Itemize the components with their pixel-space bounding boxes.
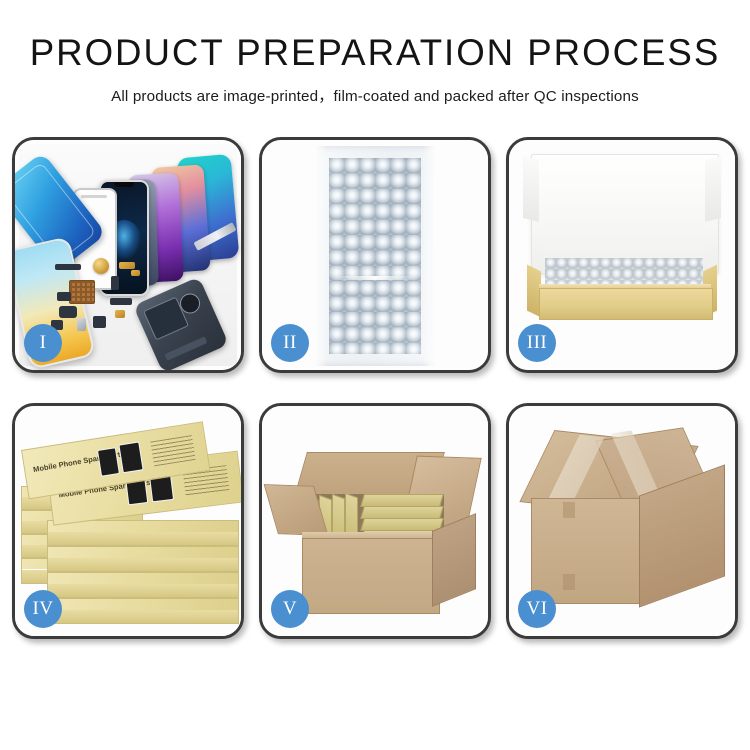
step-badge-iii: III — [518, 324, 556, 362]
step-i-image: I — [15, 140, 241, 370]
flex-cable-part — [55, 264, 81, 270]
bubble-wrap-sleeve — [315, 146, 435, 366]
wrap-edge-right — [423, 146, 435, 366]
stacked-box-edge — [47, 598, 239, 624]
box-front-kraft — [539, 288, 713, 320]
earpiece-slot — [81, 195, 107, 198]
step-panel-iv[interactable]: Mobile Phone Spare Parts Mobile Phone Sp… — [12, 403, 244, 639]
page-subtitle: All products are image-printed，film-coat… — [0, 84, 750, 106]
step-panel-v[interactable]: V — [259, 403, 491, 639]
step-panel-i[interactable]: I — [12, 137, 244, 373]
step-badge-iv: IV — [24, 590, 62, 628]
box-phone-image — [118, 441, 143, 473]
bubble-wrap-body — [329, 158, 421, 354]
box-top-face — [48, 599, 238, 610]
camera-lens-part — [93, 316, 106, 328]
box-front-face — [48, 584, 238, 597]
carton-side-face — [432, 513, 476, 607]
carton-seam-mark — [563, 574, 575, 590]
phone-notch — [114, 182, 134, 187]
step-badge-vi: VI — [518, 590, 556, 628]
box-front-face — [48, 610, 238, 623]
antenna-flex-part — [110, 298, 132, 305]
infographic-page: PRODUCT PREPARATION PROCESS All products… — [0, 0, 750, 750]
sealed-carton-front — [531, 498, 643, 604]
step-panel-iii[interactable]: III — [506, 137, 738, 373]
process-steps-grid: I II — [12, 137, 738, 639]
step-vi-image: VI — [509, 406, 735, 636]
stacked-box-edge — [47, 546, 239, 572]
carton-seam-mark — [563, 502, 575, 518]
box-top-face — [48, 547, 238, 558]
vibration-motor-part — [93, 258, 109, 274]
box-top-face — [48, 573, 238, 584]
wrap-edge-left — [315, 146, 327, 366]
step-badge-v: V — [271, 590, 309, 628]
bubble-pattern — [329, 158, 421, 354]
sim-tray-part — [77, 318, 86, 331]
step-v-image: V — [262, 406, 488, 636]
speaker-part — [57, 292, 71, 301]
connector-chip-grid — [69, 280, 95, 304]
button-flex-part — [111, 276, 119, 290]
lid-tab-left — [523, 156, 539, 222]
step-panel-vi[interactable]: VI — [506, 403, 738, 639]
step-badge-ii: II — [271, 324, 309, 362]
step-iii-image: III — [509, 140, 735, 370]
step-iv-image: Mobile Phone Spare Parts Mobile Phone Sp… — [15, 406, 241, 636]
page-title: PRODUCT PREPARATION PROCESS — [4, 34, 747, 73]
box-front-face — [48, 532, 238, 545]
gold-bracket-part — [131, 270, 140, 276]
box-front-face — [48, 558, 238, 571]
step-badge-i: I — [24, 324, 62, 362]
carton-front-face — [302, 538, 440, 614]
gold-contact-part — [119, 262, 135, 269]
lid-tab-right — [705, 156, 721, 222]
stacked-box-edge — [47, 520, 239, 546]
wrap-seam — [333, 276, 417, 280]
stacked-box-edge — [47, 572, 239, 598]
header: PRODUCT PREPARATION PROCESS All products… — [0, 0, 750, 106]
step-ii-image: II — [262, 140, 488, 370]
foam-sheet — [543, 184, 705, 258]
screw-plate-part — [115, 310, 125, 318]
box-phone-image — [97, 447, 120, 477]
step-panel-ii[interactable]: II — [259, 137, 491, 373]
box-spec-lines — [150, 435, 195, 466]
taptic-engine-part — [59, 306, 77, 318]
